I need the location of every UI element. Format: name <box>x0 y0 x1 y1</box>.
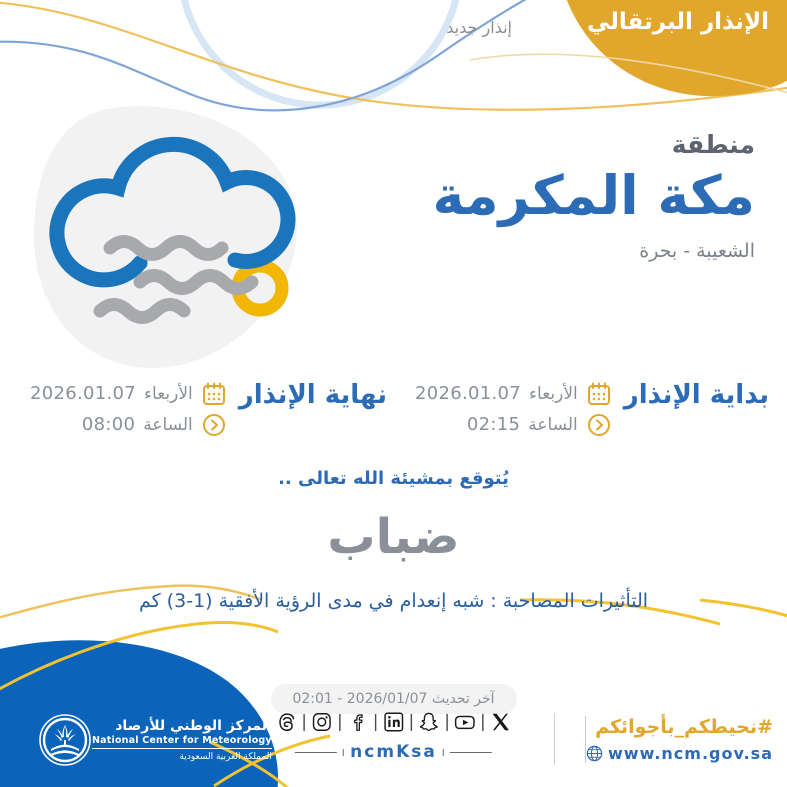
social-separator: | <box>301 714 307 731</box>
forecast-lead: يُتوقع بمشيئة الله تعالى .. <box>0 468 787 489</box>
social-links: | | | | <box>275 711 511 762</box>
website-url[interactable]: www.ncm.gov.sa <box>608 744 773 763</box>
alert-end-time-word: الساعة <box>143 415 193 435</box>
social-separator: | <box>337 714 343 731</box>
region-label: منطقة <box>335 130 755 160</box>
region-block: منطقة مكة المكرمة الشعيبة - بحرة <box>335 130 755 262</box>
alert-time-section: بداية الإنذار الأربعاء <box>0 378 787 453</box>
snapchat-icon[interactable] <box>418 711 440 733</box>
calendar-icon <box>586 381 612 407</box>
social-separator: | <box>444 714 450 731</box>
alert-end-block: نهاية الإنذار الأربعاء <box>17 378 387 440</box>
fog-line-1 <box>110 242 222 255</box>
alert-start-date-row: الأربعاء 2026.01.07 <box>415 378 612 409</box>
footer-brand: #نحيطكم_بأجوائكم www.ncm.gov.sa <box>585 716 773 763</box>
alert-start-day: الأربعاء <box>529 384 578 404</box>
alert-level-banner: الإنذار البرتقالي <box>587 9 769 35</box>
linkedin-icon[interactable] <box>383 711 405 733</box>
region-sublocation: الشعيبة - بحرة <box>335 240 755 262</box>
footer-divider <box>554 713 555 765</box>
alert-end-day: الأربعاء <box>144 384 193 404</box>
clock-chevron-icon <box>201 412 227 438</box>
youtube-icon[interactable] <box>454 711 476 733</box>
alert-card: الإنذار البرتقالي إنذار جديد منطقة مكة ا… <box>0 0 787 787</box>
forecast-phenomenon: ضباب <box>0 511 787 564</box>
social-separator: | <box>373 714 379 731</box>
threads-icon[interactable] <box>275 711 297 733</box>
globe-icon <box>586 745 603 762</box>
last-update-badge: آخر تحديث 2026/01/07 - 02:01 <box>270 684 516 714</box>
cloud-outline <box>57 144 288 279</box>
alert-start-time: 02:15 <box>467 414 520 435</box>
forecast-section: يُتوقع بمشيئة الله تعالى .. ضباب التأثير… <box>0 468 787 612</box>
alert-end-date-row: الأربعاء 2026.01.07 <box>30 378 227 409</box>
alert-end-title: نهاية الإنذار <box>239 378 387 410</box>
weather-icon <box>22 108 322 373</box>
region-name: مكة المكرمة <box>335 162 755 230</box>
social-separator: | <box>480 714 486 731</box>
instagram-icon[interactable] <box>311 711 333 733</box>
x-icon[interactable] <box>490 711 512 733</box>
facebook-icon[interactable] <box>347 711 369 733</box>
alert-start-date: 2026.01.07 <box>415 383 521 404</box>
social-separator: | <box>409 714 415 731</box>
alert-end-date: 2026.01.07 <box>30 383 136 404</box>
handle-rule-right <box>295 752 337 753</box>
ncm-logo: المركز الوطني للأرصاد National Center fo… <box>38 713 282 767</box>
logo-english-name: National Center for Meteorology <box>92 735 272 749</box>
ksa-emblem-icon <box>38 713 92 767</box>
forecast-impacts: التأثيرات المصاحبة : شبه إنعدام في مدى ا… <box>0 590 787 612</box>
alert-start-title: بداية الإنذار <box>624 378 769 410</box>
fog-line-3 <box>100 305 184 318</box>
handle-rule-left <box>450 752 492 753</box>
alert-end-time-row: الساعة 08:00 <box>30 409 227 440</box>
handle-tick-left <box>443 749 444 756</box>
logo-ksa-name: المملكة العربية السعودية <box>92 752 272 762</box>
clock-chevron-icon <box>586 412 612 438</box>
alert-start-time-word: الساعة <box>528 415 578 435</box>
alert-end-time: 08:00 <box>82 414 135 435</box>
social-handle: ncmKsa <box>350 742 437 762</box>
alert-start-block: بداية الإنذار الأربعاء <box>399 378 769 440</box>
logo-arabic-name: المركز الوطني للأرصاد <box>92 718 272 734</box>
fog-cloud-sun-icon <box>22 108 322 373</box>
calendar-icon <box>201 381 227 407</box>
handle-tick-right <box>343 749 344 756</box>
alert-start-time-row: الساعة 02:15 <box>415 409 612 440</box>
campaign-hashtag: #نحيطكم_بأجوائكم <box>586 716 773 738</box>
new-alert-label: إنذار جديد <box>446 18 512 37</box>
